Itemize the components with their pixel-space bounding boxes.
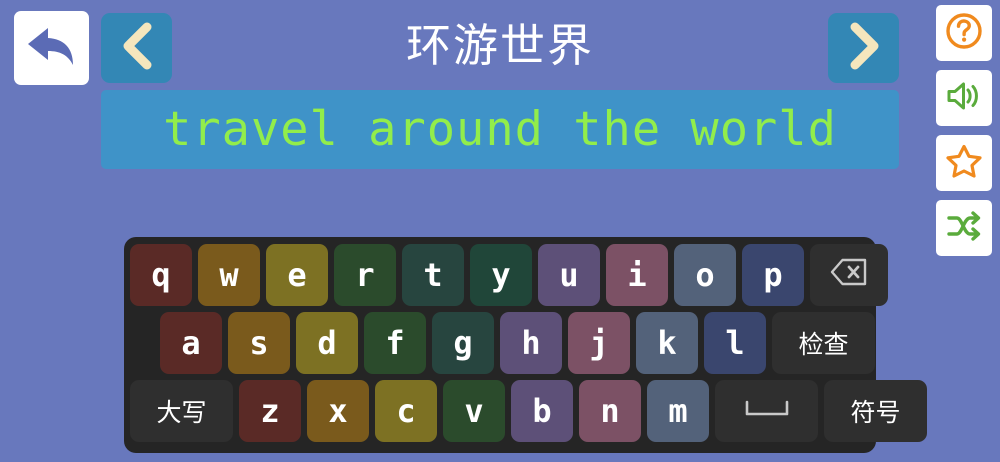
key-q[interactable]: q — [130, 244, 192, 306]
key-t[interactable]: t — [402, 244, 464, 306]
star-icon — [944, 141, 984, 186]
key-y[interactable]: y — [470, 244, 532, 306]
key-p[interactable]: p — [742, 244, 804, 306]
next-button[interactable] — [828, 13, 899, 83]
shuffle-icon — [944, 206, 984, 251]
key-i[interactable]: i — [606, 244, 668, 306]
key-s[interactable]: s — [228, 312, 290, 374]
phrase-banner[interactable]: travel around the world — [101, 90, 899, 169]
question-circle-icon — [944, 11, 984, 56]
speaker-icon — [944, 76, 984, 121]
key-r[interactable]: r — [334, 244, 396, 306]
backspace-icon — [829, 257, 869, 294]
shuffle-button[interactable] — [936, 200, 992, 256]
key-x[interactable]: x — [307, 380, 369, 442]
key-j[interactable]: j — [568, 312, 630, 374]
keyboard-row-2: asdfghjkl检查 — [130, 312, 870, 374]
key-o[interactable]: o — [674, 244, 736, 306]
key-符号[interactable]: 符号 — [824, 380, 927, 442]
key-v[interactable]: v — [443, 380, 505, 442]
keyboard-row-3: 大写zxcvbnm符号 — [130, 380, 870, 442]
key-f[interactable]: f — [364, 312, 426, 374]
key-d[interactable]: d — [296, 312, 358, 374]
key-e[interactable]: e — [266, 244, 328, 306]
key-n[interactable]: n — [579, 380, 641, 442]
on-screen-keyboard: qwertyuiopasdfghjkl检查大写zxcvbnm符号 — [124, 237, 876, 453]
keyboard-row-1: qwertyuiop — [130, 244, 870, 306]
help-button[interactable] — [936, 5, 992, 61]
key-k[interactable]: k — [636, 312, 698, 374]
key-b[interactable]: b — [511, 380, 573, 442]
key-a[interactable]: a — [160, 312, 222, 374]
key-w[interactable]: w — [198, 244, 260, 306]
key-l[interactable]: l — [704, 312, 766, 374]
key-g[interactable]: g — [432, 312, 494, 374]
sound-button[interactable] — [936, 70, 992, 126]
favorite-button[interactable] — [936, 135, 992, 191]
chevron-right-icon — [847, 22, 881, 75]
key-m[interactable]: m — [647, 380, 709, 442]
key-c[interactable]: c — [375, 380, 437, 442]
phrase-text: travel around the world — [163, 102, 837, 157]
key-u[interactable]: u — [538, 244, 600, 306]
key-z[interactable]: z — [239, 380, 301, 442]
app-root: 环游世界 travel around the world — [0, 0, 1000, 462]
tool-panel — [936, 5, 994, 265]
spacebar-icon — [744, 397, 790, 426]
key-检查[interactable]: 检查 — [772, 312, 875, 374]
key-backspace[interactable] — [810, 244, 888, 306]
key-大写[interactable]: 大写 — [130, 380, 233, 442]
key-h[interactable]: h — [500, 312, 562, 374]
key-space[interactable] — [715, 380, 818, 442]
